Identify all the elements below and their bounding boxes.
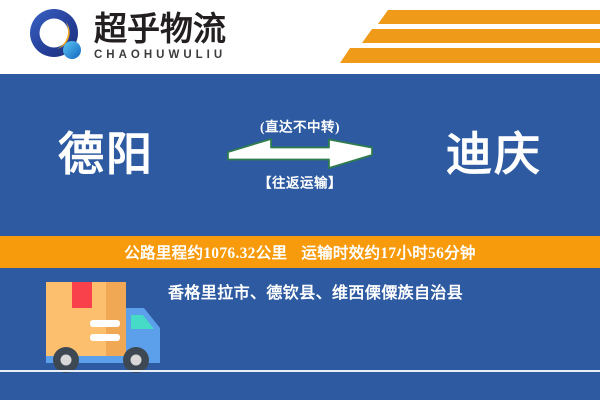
brand-name-en: CHAOHUWULIU: [94, 49, 226, 61]
round-trip-note: 【往返运输】: [258, 176, 342, 190]
header-bar: 超乎物流 CHAOHUWULIU: [0, 0, 600, 72]
bottom-divider: [0, 370, 600, 372]
coverage-panel: 香格里拉市、德钦县、维西傈僳族自治县: [0, 268, 600, 400]
route-middle-block: (直达不中转) 【往返运输】: [200, 121, 400, 190]
circle-crescent-logo-icon: [26, 6, 88, 68]
brand-name-cn: 超乎物流: [94, 13, 226, 49]
route-info-bar: 公路里程约1076.32公里运输时效约17小时56分钟: [0, 236, 600, 268]
destination-city: 迪庆: [446, 132, 542, 178]
bidirectional-arrow-icon: [225, 138, 375, 172]
logistics-route-banner: 超乎物流 CHAOHUWULIU 德阳 (直达不中转): [0, 0, 600, 400]
brand-text-block: 超乎物流 CHAOHUWULIU: [94, 13, 226, 62]
distance-label: 公路里程约1076.32公里: [124, 245, 287, 262]
brand-logo[interactable]: 超乎物流 CHAOHUWULIU: [26, 6, 226, 68]
delivery-truck-icon: [28, 276, 170, 376]
three-slanted-stripes-decoration: [310, 8, 600, 66]
coverage-areas-text: 香格里拉市、德钦县、维西傈僳族自治县: [168, 279, 463, 303]
info-bar-text: 公路里程约1076.32公里运输时效约17小时56分钟: [124, 241, 475, 263]
duration-label: 运输时效约17小时56分钟: [301, 245, 475, 262]
route-panel: 德阳 (直达不中转) 【往返运输】 迪庆: [0, 74, 600, 236]
origin-city: 德阳: [58, 132, 154, 178]
direct-route-note: (直达不中转): [260, 121, 340, 135]
